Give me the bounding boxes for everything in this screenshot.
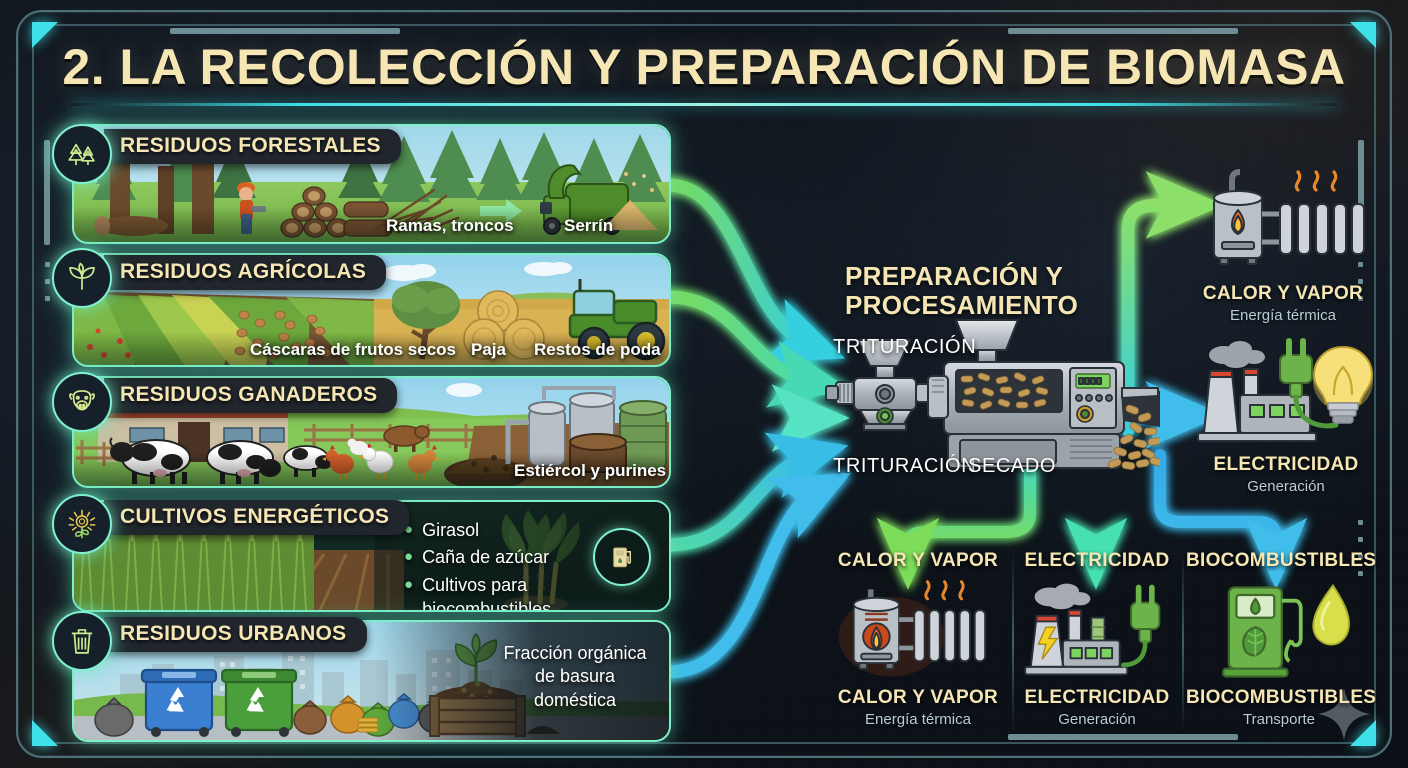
output-top-label-biocombustibles: BIOCOMBUSTIBLES <box>1186 550 1372 572</box>
output-sub-energia-termica: Energía térmica <box>828 711 1008 728</box>
center-title-line-1: PREPARACIÓN Y <box>845 262 1078 291</box>
caption-fraccion-organica: Fracción orgánica de basura doméstica <box>495 642 655 712</box>
label-trituracion-bottom: TRITURACIÓN <box>833 455 976 478</box>
center-title-line-2: PROCESAMIENTO <box>845 291 1078 320</box>
caption-serrin: Serrín <box>564 216 613 236</box>
output-electricidad-right[interactable]: ELECTRICIDAD Generación <box>1188 333 1384 495</box>
cultivos-bullet-list: ● Girasol ● Caña de azúcar ● Cultivos pa… <box>404 518 564 612</box>
fuel-pump-icon <box>593 528 651 586</box>
sprout-icon <box>52 248 112 308</box>
bullet-girasol: Girasol <box>422 518 479 542</box>
output-name-calor-y-vapor: CALOR Y VAPOR <box>1188 283 1378 305</box>
pine-trees-icon <box>52 124 112 184</box>
bullet-dot-icon: ● <box>404 573 413 596</box>
output-calor-y-vapor-bottom[interactable]: CALOR Y VAPOR <box>828 550 1008 728</box>
bottom-divider-2 <box>1182 552 1184 732</box>
output-sub-generacion: Generación <box>1188 478 1384 495</box>
label-secado: SECADO <box>968 455 1056 478</box>
hud-bar-bottom-right <box>1008 734 1238 740</box>
power-plant-bulb-icon <box>1188 333 1384 449</box>
output-top-label-electricidad: ELECTRICIDAD <box>1013 550 1181 572</box>
boiler-radiator-icon <box>1188 160 1378 278</box>
output-biocombustibles-bottom[interactable]: BIOCOMBUSTIBLES BIOCOMBUSTIBLES Transpor… <box>1186 550 1372 728</box>
output-top-label-calor-y-vapor: CALOR Y VAPOR <box>828 550 1008 572</box>
caption-estiercol-y-purines: Estiércol y purines <box>514 461 666 481</box>
caption-paja: Paja <box>471 340 506 360</box>
caption-cascaras-frutos-secos: Cáscaras de frutos secos <box>250 340 456 360</box>
corner-triangle-bottom-left-icon <box>32 720 58 746</box>
bullet-cana-de-azucar: Caña de azúcar <box>422 545 549 569</box>
trash-bin-icon <box>52 611 112 671</box>
badge-residuos-ganaderos: RESIDUOS GANADEROS <box>104 378 397 413</box>
output-name-calor-y-vapor: CALOR Y VAPOR <box>828 687 1008 709</box>
hud-bar-left <box>44 140 50 245</box>
power-plant-plug-icon <box>1013 578 1181 682</box>
output-name-electricidad: ELECTRICIDAD <box>1188 454 1384 476</box>
badge-cultivos-energeticos: CULTIVOS ENERGÉTICOS <box>104 500 409 535</box>
output-calor-y-vapor-right[interactable]: CALOR Y VAPOR Energía térmica <box>1188 160 1378 324</box>
label-trituracion-top: TRITURACIÓN <box>833 336 976 359</box>
output-sub-transporte: Transporte <box>1186 711 1372 728</box>
badge-residuos-urbanos: RESIDUOS URBANOS <box>104 617 367 652</box>
page-title: 2. LA RECOLECCIÓN Y PREPARACIÓN DE BIOMA… <box>0 38 1408 96</box>
hud-bar-top-left <box>170 28 400 34</box>
bullet-cultivos-para-biocombustibles: Cultivos para biocombustibles <box>422 573 564 612</box>
biofuel-pump-drop-icon <box>1186 578 1372 682</box>
hud-bar-top-right <box>1008 28 1238 34</box>
boiler-radiator-icon <box>828 578 1008 682</box>
badge-residuos-forestales: RESIDUOS FORESTALES <box>104 129 401 164</box>
caption-restos-de-poda: Restos de poda <box>534 340 661 360</box>
infographic-canvas: 2. LA RECOLECCIÓN Y PREPARACIÓN DE BIOMA… <box>0 0 1408 768</box>
output-sub-generacion: Generación <box>1013 711 1181 728</box>
output-name-biocombustibles: BIOCOMBUSTIBLES <box>1186 687 1372 709</box>
caption-ramas-troncos: Ramas, troncos <box>386 216 514 236</box>
hud-dots-left <box>45 262 50 301</box>
title-underline <box>70 103 1338 106</box>
center-section-title: PREPARACIÓN Y PROCESAMIENTO <box>845 262 1078 320</box>
bullet-dot-icon: ● <box>404 545 413 568</box>
cow-head-icon <box>52 372 112 432</box>
sunflower-icon <box>52 494 112 554</box>
output-sub-energia-termica: Energía térmica <box>1188 307 1378 324</box>
output-name-electricidad: ELECTRICIDAD <box>1013 687 1181 709</box>
badge-residuos-agricolas: RESIDUOS AGRÍCOLAS <box>104 255 386 290</box>
output-electricidad-bottom[interactable]: ELECTRICIDAD <box>1013 550 1181 728</box>
